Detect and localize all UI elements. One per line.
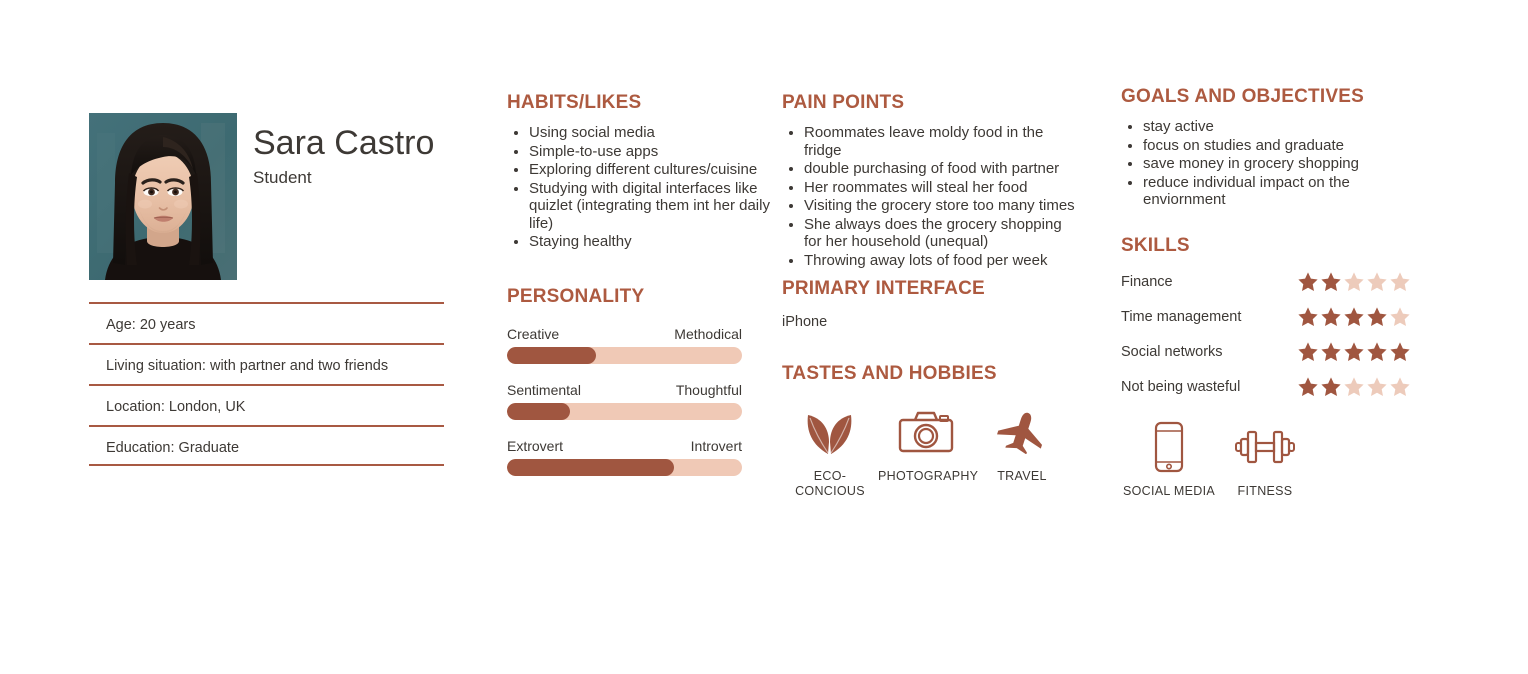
star-filled-icon — [1366, 341, 1388, 362]
list-item: Using social media — [529, 124, 772, 142]
star-empty-icon — [1343, 376, 1365, 397]
habits-section: HABITS/LIKES Using social media Simple-t… — [507, 92, 772, 252]
identity-row: Sara Castro Student — [89, 113, 444, 280]
slider-track[interactable] — [507, 347, 742, 364]
personality-section: PERSONALITY Creative Methodical Sentimen… — [507, 286, 742, 476]
star-empty-icon — [1389, 376, 1411, 397]
detail-row-living: Living situation: with partner and two f… — [89, 343, 444, 384]
slider-left-label: Sentimental — [507, 382, 581, 398]
list-item: reduce individual impact on the enviornm… — [1143, 174, 1411, 209]
list-item: focus on studies and graduate — [1143, 137, 1411, 155]
slider-track[interactable] — [507, 459, 742, 476]
list-item: Exploring different cultures/cuisine — [529, 161, 772, 179]
star-filled-icon — [1297, 306, 1319, 327]
star-filled-icon — [1343, 341, 1365, 362]
skill-row-not-being-wasteful: Not being wasteful — [1121, 376, 1411, 397]
camera-icon — [878, 407, 974, 457]
star-filled-icon — [1343, 306, 1365, 327]
list-item: Roommates leave moldy food in the fridge — [804, 124, 1082, 159]
slider-track[interactable] — [507, 403, 742, 420]
star-empty-icon — [1389, 271, 1411, 292]
star-filled-icon — [1320, 376, 1342, 397]
skill-icon-social-media[interactable]: SOCIAL MEDIA — [1121, 422, 1217, 499]
detail-row-education: Education: Graduate — [89, 425, 444, 466]
profile-details-table: Age: 20 years Living situation: with par… — [89, 302, 444, 466]
persona-canvas: Sara Castro Student Age: 20 years Living… — [0, 0, 1528, 674]
detail-row-location: Location: London, UK — [89, 384, 444, 425]
list-item: Her roommates will steal her food — [804, 179, 1082, 197]
star-filled-icon — [1389, 341, 1411, 362]
page-title: Sara Castro — [253, 123, 434, 163]
primary-interface-heading: PRIMARY INTERFACE — [782, 278, 1082, 300]
list-item: Staying healthy — [529, 233, 772, 251]
star-rating — [1297, 271, 1411, 292]
hobby-label: ECO-CONCIOUS — [782, 469, 878, 499]
pain-points-list: Roommates leave moldy food in the fridge… — [782, 124, 1082, 269]
dumbbell-icon — [1217, 422, 1313, 472]
list-item: stay active — [1143, 118, 1411, 136]
skill-row-social-networks: Social networks — [1121, 341, 1411, 362]
star-rating — [1297, 341, 1411, 362]
slider-right-label: Thoughtful — [676, 382, 742, 398]
list-item: Simple-to-use apps — [529, 143, 772, 161]
star-empty-icon — [1343, 271, 1365, 292]
slider-left-label: Creative — [507, 326, 559, 342]
skills-heading: SKILLS — [1121, 235, 1411, 257]
list-item: Studying with digital interfaces like qu… — [529, 180, 772, 233]
star-empty-icon — [1389, 306, 1411, 327]
skill-icon-label: SOCIAL MEDIA — [1121, 484, 1217, 499]
slider-fill — [507, 347, 596, 364]
personality-slider-creative: Creative Methodical — [507, 326, 742, 364]
tastes-hobbies-section: TASTES AND HOBBIES ECO-CONCIOUS — [782, 363, 1102, 499]
list-item: She always does the grocery shopping for… — [804, 216, 1082, 251]
slider-fill — [507, 403, 570, 420]
skill-label: Time management — [1121, 309, 1241, 325]
slider-right-label: Methodical — [674, 326, 742, 342]
star-empty-icon — [1366, 376, 1388, 397]
star-filled-icon — [1320, 341, 1342, 362]
goals-heading: GOALS AND OBJECTIVES — [1121, 86, 1411, 108]
skill-row-finance: Finance — [1121, 271, 1411, 292]
airplane-icon — [974, 407, 1070, 457]
profile-panel: Sara Castro Student Age: 20 years Living… — [89, 113, 444, 466]
hobby-item-travel[interactable]: TRAVEL — [974, 407, 1070, 499]
hobby-label: TRAVEL — [974, 469, 1070, 484]
habits-list: Using social media Simple-to-use apps Ex… — [507, 124, 772, 251]
list-item: Visiting the grocery store too many time… — [804, 197, 1082, 215]
skills-icon-row: SOCIAL MEDIA FITNESS — [1121, 400, 1411, 499]
identity-text: Sara Castro Student — [253, 113, 434, 188]
personality-heading: PERSONALITY — [507, 286, 742, 308]
tastes-hobbies-heading: TASTES AND HOBBIES — [782, 363, 1102, 385]
hobby-label: PHOTOGRAPHY — [878, 469, 974, 484]
star-filled-icon — [1366, 306, 1388, 327]
star-rating — [1297, 376, 1411, 397]
hobby-icon-row: ECO-CONCIOUS PHOTOGRAPHY — [782, 407, 1102, 499]
star-filled-icon — [1297, 341, 1319, 362]
leaves-icon — [782, 407, 878, 457]
skill-label: Not being wasteful — [1121, 379, 1240, 395]
detail-row-age: Age: 20 years — [89, 302, 444, 343]
star-filled-icon — [1320, 271, 1342, 292]
hobby-item-photography[interactable]: PHOTOGRAPHY — [878, 407, 974, 499]
skill-row-time-management: Time management — [1121, 306, 1411, 327]
slider-right-label: Introvert — [691, 438, 742, 454]
personality-slider-extrovert: Extrovert Introvert — [507, 438, 742, 476]
star-filled-icon — [1297, 271, 1319, 292]
smartphone-icon — [1121, 422, 1217, 472]
personality-slider-sentimental: Sentimental Thoughtful — [507, 382, 742, 420]
habits-heading: HABITS/LIKES — [507, 92, 772, 114]
goals-list: stay active focus on studies and graduat… — [1121, 118, 1411, 209]
pain-points-section: PAIN POINTS Roommates leave moldy food i… — [782, 92, 1082, 270]
slider-fill — [507, 459, 674, 476]
portrait-photo — [89, 113, 237, 280]
person-role: Student — [253, 168, 434, 188]
skills-section: SKILLS Finance Time management Social ne… — [1121, 235, 1411, 397]
skill-icon-fitness[interactable]: FITNESS — [1217, 422, 1313, 499]
primary-interface-value: iPhone — [782, 314, 1082, 330]
list-item: save money in grocery shopping — [1143, 155, 1411, 173]
list-item: Throwing away lots of food per week — [804, 252, 1082, 270]
star-filled-icon — [1320, 306, 1342, 327]
star-rating — [1297, 306, 1411, 327]
skill-label: Social networks — [1121, 344, 1223, 360]
slider-left-label: Extrovert — [507, 438, 563, 454]
skill-icon-label: FITNESS — [1217, 484, 1313, 499]
goals-section: GOALS AND OBJECTIVES stay active focus o… — [1121, 86, 1411, 210]
star-filled-icon — [1297, 376, 1319, 397]
primary-interface-section: PRIMARY INTERFACE iPhone — [782, 278, 1082, 330]
list-item: double purchasing of food with partner — [804, 160, 1082, 178]
pain-points-heading: PAIN POINTS — [782, 92, 1082, 114]
star-empty-icon — [1366, 271, 1388, 292]
skill-label: Finance — [1121, 274, 1173, 290]
hobby-item-eco[interactable]: ECO-CONCIOUS — [782, 407, 878, 499]
